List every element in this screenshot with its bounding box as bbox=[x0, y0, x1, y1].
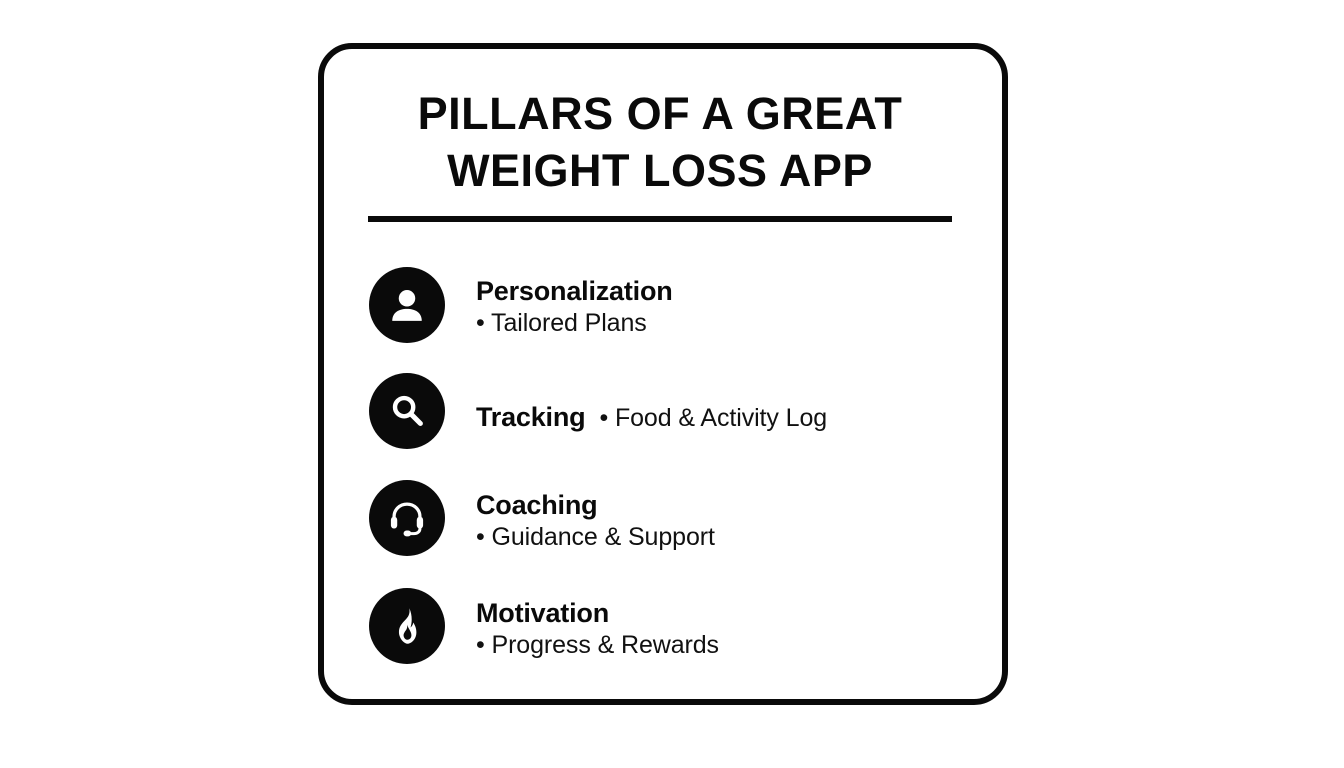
pillars-list: Personalization • Tailored Plans Trackin… bbox=[369, 264, 969, 696]
page-title-line-2: WEIGHT LOSS APP bbox=[368, 142, 952, 199]
canvas: PILLARS OF A GREAT WEIGHT LOSS APP Perso… bbox=[0, 0, 1344, 768]
list-item-title: Coaching bbox=[476, 490, 956, 522]
flame-icon bbox=[369, 588, 445, 664]
list-item-text: Tracking • Food & Activity Log bbox=[476, 402, 956, 434]
list-item-subtitle: • Guidance & Support bbox=[476, 522, 956, 552]
list-item-title: Tracking bbox=[476, 402, 585, 434]
list-item-subtitle: • Tailored Plans bbox=[476, 308, 956, 338]
title-divider bbox=[368, 216, 952, 222]
page-title-line-1: PILLARS OF A GREAT bbox=[368, 85, 952, 142]
list-item-subtitle: • Food & Activity Log bbox=[599, 403, 827, 433]
pillars-card: PILLARS OF A GREAT WEIGHT LOSS APP Perso… bbox=[318, 43, 1008, 705]
list-item-title: Personalization bbox=[476, 276, 956, 308]
list-item-text: Coaching • Guidance & Support bbox=[476, 490, 956, 552]
list-item-coaching[interactable]: Coaching • Guidance & Support bbox=[369, 480, 969, 588]
search-icon bbox=[369, 373, 445, 449]
list-item-tracking[interactable]: Tracking • Food & Activity Log bbox=[369, 372, 969, 480]
list-item-title: Motivation bbox=[476, 598, 956, 630]
headset-icon bbox=[369, 480, 445, 556]
list-item-motivation[interactable]: Motivation • Progress & Rewards bbox=[369, 588, 969, 696]
person-icon bbox=[369, 267, 445, 343]
page-title: PILLARS OF A GREAT WEIGHT LOSS APP bbox=[368, 85, 952, 199]
list-item-subtitle: • Progress & Rewards bbox=[476, 630, 956, 660]
list-item-personalization[interactable]: Personalization • Tailored Plans bbox=[369, 264, 969, 372]
list-item-text: Personalization • Tailored Plans bbox=[476, 276, 956, 338]
list-item-text: Motivation • Progress & Rewards bbox=[476, 598, 956, 660]
